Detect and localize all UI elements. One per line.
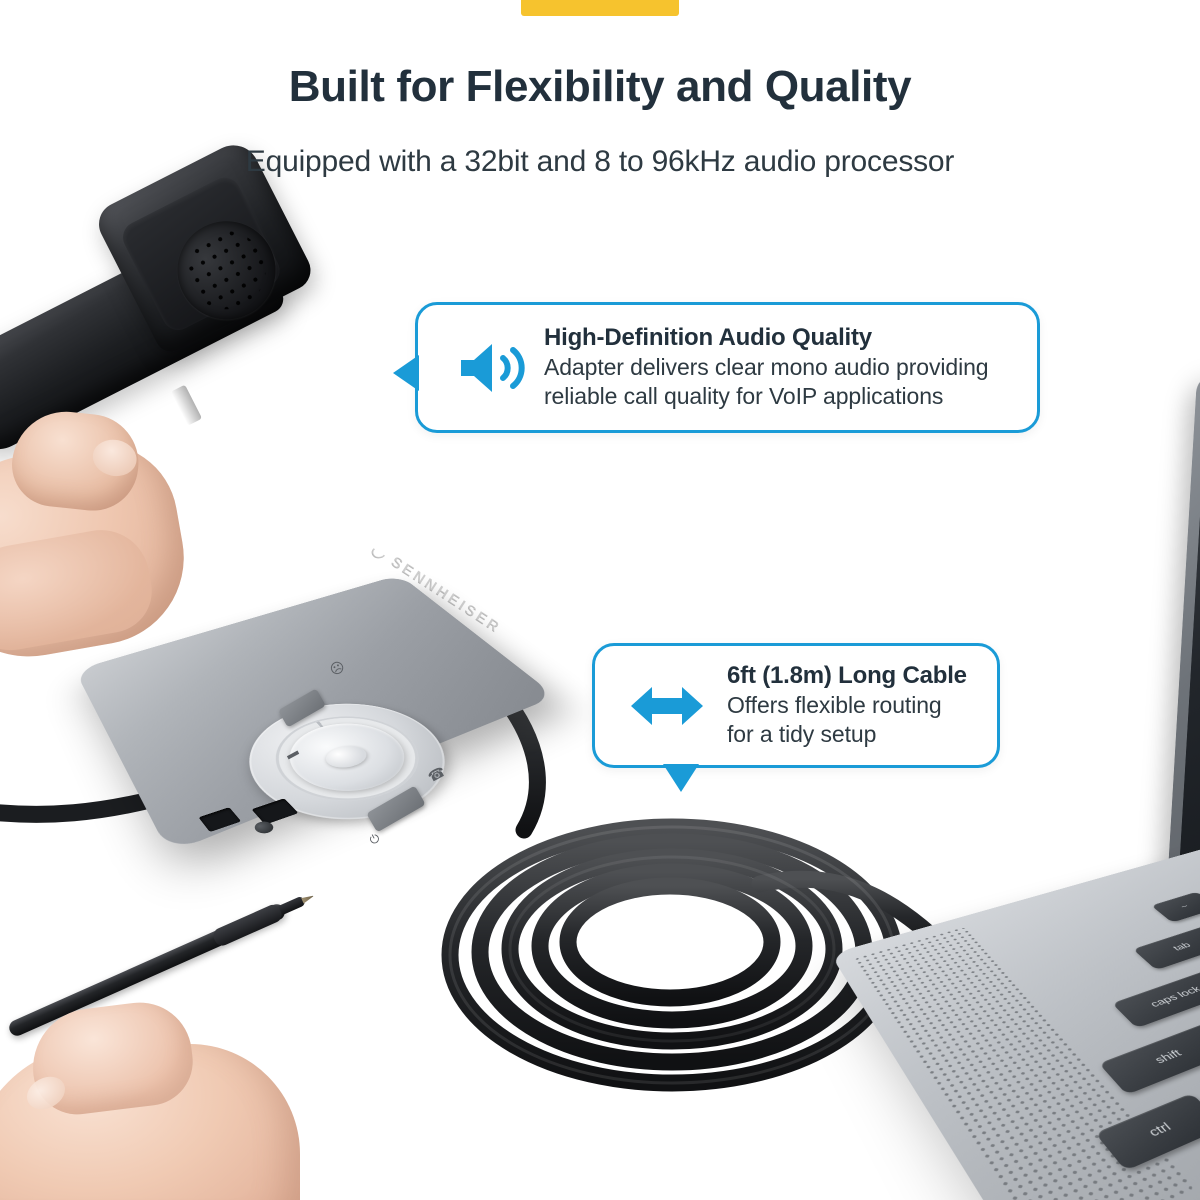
page-subtitle: Equipped with a 32bit and 8 to 96kHz aud… — [0, 145, 1200, 179]
product-photo: ◡SENNHEISER ☹ ▬ ☎ ⏻ — [0, 0, 1200, 1200]
page-title: Built for Flexibility and Quality — [0, 62, 1200, 112]
callout-audio-text: High-Definition Audio Quality Adapter de… — [544, 324, 1019, 411]
adapter-port-1 — [198, 807, 241, 832]
callout-cable-text: 6ft (1.8m) Long Cable Offers flexible ro… — [727, 662, 983, 749]
pen-nib — [301, 893, 314, 903]
callout-audio-body-line-1: Adapter delivers clear mono audio provid… — [544, 353, 1019, 382]
callout-tail-left — [393, 355, 419, 391]
speaker-volume-icon — [440, 339, 544, 397]
usb-audio-adapter: ◡SENNHEISER ☹ ▬ ☎ ⏻ — [92, 540, 532, 870]
callout-audio-body-line-2: reliable call quality for VoIP applicati… — [544, 382, 1019, 411]
callout-cable-body-line-2: for a tidy setup — [727, 720, 983, 749]
callout-audio-title: High-Definition Audio Quality — [544, 324, 1019, 353]
callout-long-cable: 6ft (1.8m) Long Cable Offers flexible ro… — [592, 643, 1000, 768]
accent-bar — [521, 0, 679, 16]
laptop-key-tab[interactable]: tab — [1133, 925, 1200, 970]
handset-speaker-grille — [161, 204, 293, 336]
adapter-port-2 — [252, 798, 299, 824]
callout-audio-quality: High-Definition Audio Quality Adapter de… — [415, 302, 1040, 433]
laptop-key--[interactable]: ~ — [1151, 892, 1200, 923]
callout-cable-title: 6ft (1.8m) Long Cable — [727, 662, 983, 691]
laptop-key-caps-lock[interactable]: caps lock — [1112, 968, 1200, 1028]
double-arrow-horizontal-icon — [607, 679, 727, 733]
callout-tail-down — [663, 764, 699, 792]
hand-holding-pen — [0, 1000, 330, 1200]
product-infographic: ◡SENNHEISER ☹ ▬ ☎ ⏻ — [0, 0, 1200, 1200]
laptop: esc◁×~12tabQWcaps lockASshiftZctrlfn — [1008, 370, 1200, 1200]
callout-cable-body-line-1: Offers flexible routing — [727, 691, 983, 720]
microphone-icon: ⏻ — [367, 831, 382, 849]
laptop-key-shift[interactable]: shift — [1099, 1023, 1200, 1095]
